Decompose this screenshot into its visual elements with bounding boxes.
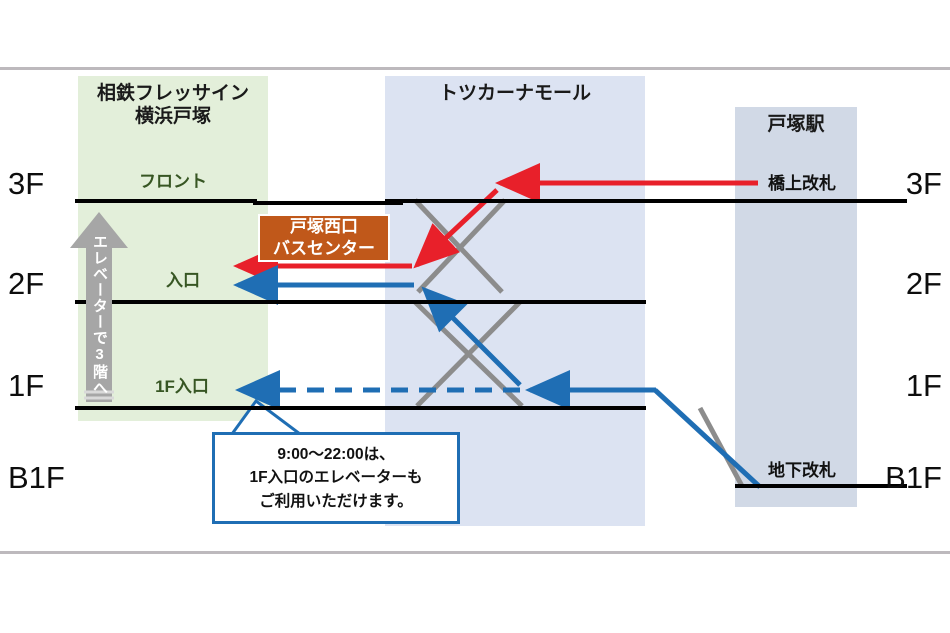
elevator-arrow-icon [0,0,950,633]
hotel-entrance-1f-label: 1F入口 [106,378,258,395]
bridge-gate-label: 橋上改札 [748,175,856,192]
hotel-entrance-2f-label: 入口 [108,272,258,289]
access-map-diagram: 相鉄フレッサイン 横浜戸塚 トツカーナモール 戸塚駅 [0,0,950,633]
bus-center-label-box: 戸塚西口 バスセンター [258,214,390,262]
underground-gate-label: 地下改札 [748,462,856,479]
hotel-front-label: フロント [88,173,258,190]
elevator-hours-callout: 9:00～22:00は、 1F入口のエレベーターも ご利用いただけます。 [212,432,460,524]
